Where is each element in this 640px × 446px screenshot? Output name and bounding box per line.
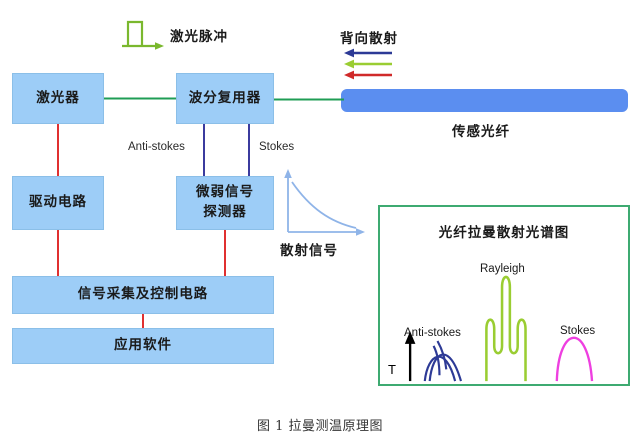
peak-anti-stokes (425, 341, 461, 381)
backscatter-arrow-green (344, 60, 392, 69)
backscatter-arrow-red (344, 71, 392, 80)
figure-caption: 图 1 拉曼测温原理图 (0, 415, 640, 434)
backscatter-arrow-blue (344, 49, 392, 58)
block-wdm: 波分复用器 (176, 73, 274, 124)
label-anti-stokes: Anti-stokes (128, 141, 185, 153)
block-drive-circuit-label: 驱动电路 (29, 193, 87, 213)
block-acquisition-control: 信号采集及控制电路 (12, 276, 274, 314)
sensing-fiber-bar (341, 89, 628, 112)
block-drive-circuit: 驱动电路 (12, 176, 104, 230)
block-weak-signal-detector-line1: 微弱信号 (196, 183, 254, 203)
peak-rayleigh (486, 277, 525, 381)
block-application-software: 应用软件 (12, 328, 274, 364)
scattering-signal-plot (284, 169, 365, 236)
block-weak-signal-detector-line2: 探测器 (203, 203, 247, 223)
block-weak-signal-detector: 微弱信号 探测器 (176, 176, 274, 230)
figure-raman-temperature-principle: 激光器 波分复用器 驱动电路 微弱信号 探测器 信号采集及控制电路 应用软件 激… (0, 0, 640, 446)
peak-stokes (557, 338, 592, 381)
raman-spectrum-inset: 光纤拉曼散射光谱图 Anti-stokes Rayleigh Stokes T (378, 205, 630, 386)
laser-pulse-icon (122, 22, 164, 50)
block-wdm-label: 波分复用器 (189, 89, 262, 109)
label-scattering-signal: 散射信号 (280, 239, 338, 259)
block-acquisition-control-label: 信号采集及控制电路 (78, 285, 209, 305)
block-laser: 激光器 (12, 73, 104, 124)
temperature-arrow (405, 331, 416, 381)
label-sensing-fiber: 传感光纤 (452, 120, 510, 140)
label-backscatter: 背向散射 (340, 27, 398, 47)
label-laser-pulse: 激光脉冲 (170, 25, 228, 45)
backscatter-arrows (344, 49, 392, 80)
scattering-signal-decay-curve (292, 182, 356, 228)
inset-spectrum-curves (380, 207, 628, 384)
block-laser-label: 激光器 (36, 89, 80, 109)
label-stokes: Stokes (259, 141, 294, 153)
block-application-software-label: 应用软件 (114, 336, 172, 356)
